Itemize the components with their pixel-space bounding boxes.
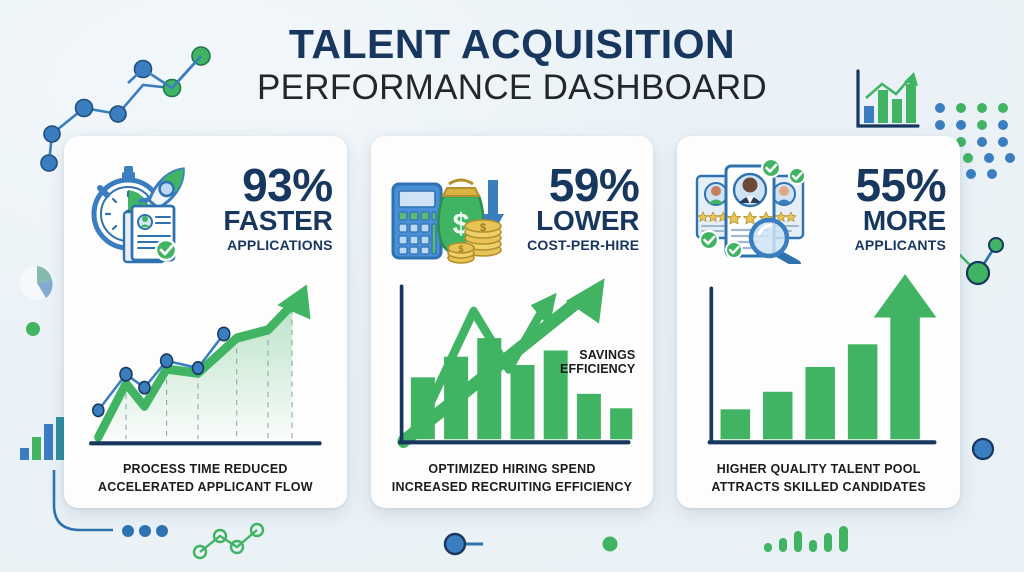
dot-right-blue xyxy=(973,439,993,459)
chart-bars-savings: SAVINGS EFFICIENCY xyxy=(385,270,640,456)
page-title: TALENT ACQUISITION xyxy=(0,22,1024,66)
bar-group xyxy=(721,344,878,439)
node-cluster-right xyxy=(958,238,1003,284)
caption-line-1: PROCESS TIME REDUCED xyxy=(78,460,333,478)
card-caption: OPTIMIZED HIRING SPEND INCREASED RECRUIT… xyxy=(383,456,642,498)
chart-annotation-line-1: SAVINGS xyxy=(560,348,635,362)
chart-annotation-line-2: EFFICIENCY xyxy=(560,362,635,376)
stat-card-faster-applications[interactable]: 93% FASTER APPLICATIONS xyxy=(64,136,347,508)
stat-word: MORE xyxy=(827,207,946,235)
dot-left-green xyxy=(26,322,40,336)
stat-percent: 59% xyxy=(521,164,640,208)
stopwatch-rocket-document-icon xyxy=(80,154,208,264)
calculator-moneybag-coins-down-arrow-icon: $ xyxy=(387,154,515,264)
svg-text:$: $ xyxy=(480,222,486,234)
stat-word: FASTER xyxy=(214,207,333,235)
stat-cards-row: 93% FASTER APPLICATIONS xyxy=(64,136,960,508)
page-header: TALENT ACQUISITION PERFORMANCE DASHBOARD xyxy=(0,22,1024,109)
stat-percent: 55% xyxy=(827,164,946,208)
node-link-graph-bottom-left xyxy=(194,524,263,558)
bar-arrow xyxy=(874,274,937,439)
stat-percent: 93% xyxy=(214,164,333,208)
stat-text-block: 59% LOWER COST-PER-HIRE xyxy=(521,164,642,255)
chart-annotation: SAVINGS EFFICIENCY xyxy=(560,348,635,376)
caption-line-1: OPTIMIZED HIRING SPEND xyxy=(385,460,640,478)
caption-line-1: HIGHER QUALITY TALENT POOL xyxy=(691,460,946,478)
card-caption: PROCESS TIME REDUCED ACCELERATED APPLICA… xyxy=(76,456,335,498)
caption-line-2: INCREASED RECRUITING EFFICIENCY xyxy=(385,478,640,496)
stat-card-lower-cost-per-hire[interactable]: $ xyxy=(371,136,654,508)
donut-fragment-left xyxy=(20,266,54,300)
dot-trio-bottom-left xyxy=(122,525,168,537)
stat-header: $ xyxy=(383,150,642,268)
stat-word: LOWER xyxy=(521,207,640,235)
caption-line-2: ATTRACTS SKILLED CANDIDATES xyxy=(691,478,946,496)
chart-bars-applicants xyxy=(691,270,946,456)
signal-bars-bottom-right xyxy=(764,526,848,552)
stat-text-block: 93% FASTER APPLICATIONS xyxy=(214,164,335,255)
dot-bottom-center-green xyxy=(603,537,618,552)
dot-with-line-bottom-center xyxy=(445,534,483,554)
stat-header: 55% MORE APPLICANTS xyxy=(689,150,948,268)
stat-sublabel: COST-PER-HIRE xyxy=(521,236,640,254)
candidate-profiles-magnifier-icon xyxy=(693,154,821,264)
card-caption: HIGHER QUALITY TALENT POOL ATTRACTS SKIL… xyxy=(689,456,948,498)
mini-bar-chart-left xyxy=(20,417,65,460)
stat-card-more-applicants[interactable]: 55% MORE APPLICANTS xyxy=(677,136,960,508)
caption-line-2: ACCELERATED APPLICANT FLOW xyxy=(78,478,333,496)
chart-line-applications xyxy=(78,270,333,456)
infographic-canvas: TALENT ACQUISITION PERFORMANCE DASHBOARD xyxy=(0,0,1024,572)
stat-header: 93% FASTER APPLICATIONS xyxy=(76,150,335,268)
stat-sublabel: APPLICANTS xyxy=(827,236,946,254)
stat-sublabel: APPLICATIONS xyxy=(214,236,333,254)
stat-text-block: 55% MORE APPLICANTS xyxy=(827,164,948,255)
svg-text:$: $ xyxy=(458,244,463,254)
page-subtitle: PERFORMANCE DASHBOARD xyxy=(0,68,1024,108)
